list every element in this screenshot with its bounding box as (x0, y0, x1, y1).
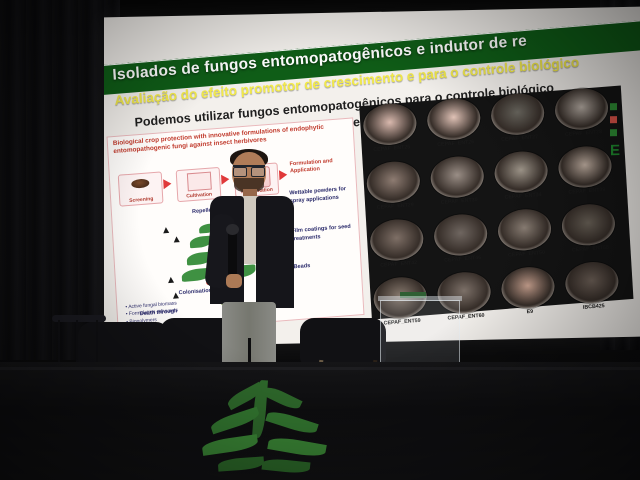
stage-floor-edge (0, 367, 640, 370)
petri-dish-cell: CEPAF_ENT34 (490, 149, 552, 198)
slide-content: Isolados de fungos entomopatogênicos e i… (104, 7, 640, 348)
petri-dish-cell: CEPAF_ENT29 (363, 159, 425, 208)
petri-dish-label: CEPAF_ENT25 (360, 143, 424, 154)
presenter-hand (226, 274, 242, 288)
petri-dish-label: CEPAF_ENT30 (427, 196, 491, 207)
petri-dish-cell: CEPAF_ENT28 (551, 86, 613, 135)
petri-dish-cell: CEPAF_ENT50 (494, 207, 556, 256)
petri-dish-cell: CEPAF_ENT46 (430, 212, 492, 261)
petri-dish-label: CEPAF_ENT39 (555, 186, 619, 197)
petri-dish-label: CEPAF_ENT28 (551, 128, 615, 139)
petri-dish-label: IBCB425 (562, 301, 626, 312)
palm-frond (267, 435, 327, 459)
petri-dish-cell: CEPAF_ENT42 (366, 217, 428, 266)
petri-dish-image (362, 102, 417, 147)
petri-dish-label: CEPAF_ENT42 (367, 259, 431, 270)
petri-dish-cell: CEPAF_ENT30 (427, 154, 489, 203)
petri-dish-image (500, 265, 555, 310)
glasses-icon (233, 165, 265, 175)
glasses-lens-left (233, 167, 247, 177)
petri-dish-label: E9 (498, 307, 562, 318)
petri-dish-image (433, 212, 488, 257)
petri-dish-cell: CEPAF_ENT25 (359, 102, 421, 151)
flow-step-screening: Screening (118, 171, 164, 206)
petri-dish-label: CEPAF_ENT34 (491, 191, 555, 202)
petri-dish-label: CEPAF_ENT29 (363, 201, 427, 212)
petri-dish-label: CEPAF_ENT50 (494, 249, 558, 260)
edge-square-mark (610, 103, 617, 110)
petri-dish-image (554, 87, 609, 132)
petri-dish-image (561, 202, 616, 247)
palm-frond (261, 384, 302, 412)
petri-dish-label: CEPAF_ENT58 (558, 244, 622, 255)
petri-dish-cell: CEPAF_ENT58 (558, 202, 620, 251)
petri-dish-image (557, 144, 612, 189)
petri-dish-cell: CEPAF_ENT26 (423, 96, 485, 145)
flow-arrow-1-icon (163, 179, 172, 190)
edge-square-mark (610, 116, 617, 123)
screenshot-root: Isolados de fungos entomopatogênicos e i… (0, 0, 640, 480)
petri-dish-image (493, 149, 548, 194)
edge-square-list (610, 103, 636, 137)
microphone-head-icon (226, 224, 239, 235)
petri-dish-label: CEPAF_ENT27 (488, 133, 552, 144)
slide-edge-marks: E (610, 103, 636, 160)
petri-dish-label: CEPAF_ENT46 (430, 254, 494, 265)
flow-step-label: Screening (120, 195, 162, 204)
insect-icon (173, 236, 179, 242)
stage-curtain-left (0, 0, 120, 360)
projection-screen: Isolados de fungos entomopatogênicos e i… (104, 7, 640, 348)
insect-icon (168, 277, 174, 283)
glasses-lens-right (251, 167, 265, 177)
petri-dish-image (366, 160, 421, 205)
petri-dish-image (564, 260, 619, 305)
petri-dish-image (426, 97, 481, 142)
palm-frond (201, 434, 258, 456)
presenter-jacket-right (256, 196, 294, 308)
petri-dish-image (490, 92, 545, 137)
petri-dish-label: CEPAF_ENT26 (424, 138, 488, 149)
petri-dish-cell: IBCB425 (561, 260, 623, 309)
palm-frond (218, 456, 265, 471)
petri-dish-image (430, 155, 485, 200)
palm-plant (196, 376, 346, 480)
palm-frond (262, 458, 311, 475)
petri-dish-cell: E9 (497, 265, 559, 314)
palm-frond (265, 408, 318, 436)
petri-dish-cell: CEPAF_ENT27 (487, 91, 549, 140)
petri-dish-cell: CEPAF_ENT39 (554, 144, 616, 193)
edge-letter-E: E (610, 142, 636, 160)
insect-icon (163, 227, 169, 233)
edge-square-mark (610, 129, 617, 136)
petri-dish-image (497, 207, 552, 252)
microphone-icon (228, 230, 237, 278)
armchair-left (78, 322, 170, 366)
petri-icon (131, 178, 149, 188)
petri-dish-image (369, 217, 424, 262)
